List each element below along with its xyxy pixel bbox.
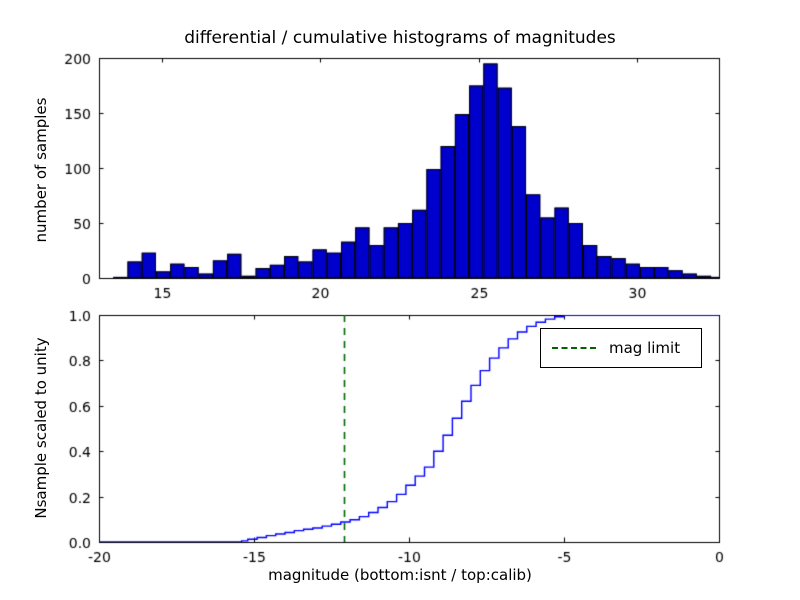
legend: mag limit bbox=[540, 328, 702, 368]
legend-item-label: mag limit bbox=[609, 339, 680, 357]
legend-item-mag-limit: mag limit bbox=[541, 329, 701, 367]
matplotlib-figure: differential / cumulative histograms of … bbox=[0, 0, 800, 600]
chart-canvas bbox=[0, 0, 800, 600]
dashed-line-icon bbox=[552, 347, 596, 349]
